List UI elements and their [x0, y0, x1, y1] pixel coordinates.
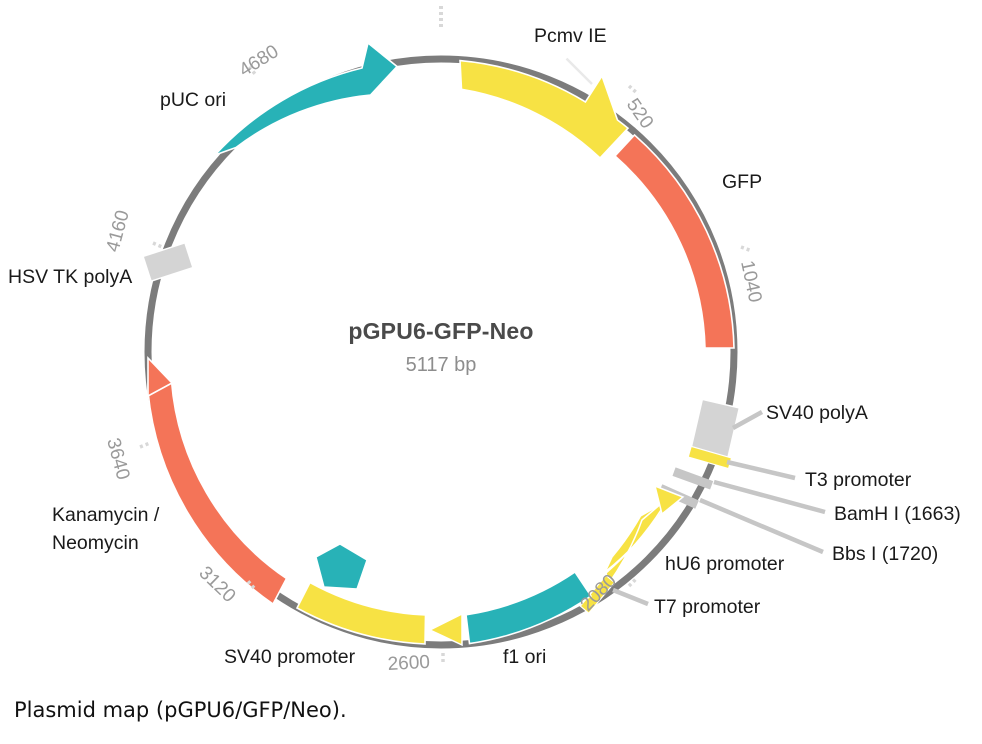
leader-t3-promoter [727, 462, 795, 478]
tick-4160: 4160 [103, 208, 162, 254]
label-sv40-polya: SV40 polyA [766, 402, 868, 424]
feature-hsv-tk-polya[interactable] [143, 243, 193, 281]
tick-label-4160: 4160 [103, 208, 134, 254]
label-kanamycin-neomycin-line2: Neomycin [52, 532, 139, 554]
plasmid-length: 5117 bp [406, 354, 477, 376]
feature-sv40-promoter[interactable] [297, 583, 426, 645]
tick-label-2600: 2600 [387, 652, 430, 675]
label-gfp: GFP [722, 171, 762, 193]
label-pcmv-ie: Pcmv IE [534, 25, 607, 47]
feature-gfp-arc[interactable] [615, 135, 734, 348]
label-puc-ori: pUC ori [160, 89, 226, 111]
tick-label-3640: 3640 [102, 436, 133, 482]
plasmid-name: pGPU6-GFP-Neo [348, 318, 533, 344]
feature-pcmv-ie[interactable] [442, 59, 629, 303]
feature-gfp[interactable] [615, 135, 734, 348]
plasmid-map-figure: Pcmv IE GFP SV40 polyA T3 promoter BamH … [0, 0, 982, 744]
tick-4680: 4680 [236, 41, 283, 81]
label-t3-promoter: T3 promoter [805, 469, 912, 491]
figure-caption: Plasmid map (pGPU6/GFP/Neo). [14, 698, 347, 722]
label-t7-promoter: T7 promoter [654, 596, 761, 618]
feature-sv40-promoter-arc[interactable] [297, 583, 426, 645]
plasmid-map-canvas: Pcmv IE GFP SV40 polyA T3 promoter BamH … [0, 0, 982, 690]
feature-inner-pentagon-shape[interactable] [316, 544, 367, 589]
tick-1040: 1040 [736, 247, 765, 304]
feature-inner-pentagon[interactable] [316, 544, 367, 589]
feature-kanamycin-neomycin-arrow[interactable] [148, 364, 287, 605]
feature-hsv-tk-polya-box[interactable] [143, 243, 193, 281]
label-bamh-i: BamH I (1663) [834, 503, 961, 525]
tick-label-1040: 1040 [736, 259, 765, 305]
label-sv40-promoter: SV40 promoter [224, 646, 356, 668]
feature-small-arrow-shape[interactable] [430, 614, 462, 645]
tick-2600: 2600 [387, 650, 443, 675]
tick-label-4680: 4680 [236, 41, 283, 81]
label-kanamycin-neomycin-line1: Kanamycin / [52, 504, 160, 526]
label-hsv-tk-polya: HSV TK polyA [8, 266, 132, 288]
feature-small-arrow-unlabeled[interactable] [430, 614, 462, 645]
feature-kanamycin-neomycin[interactable] [148, 358, 287, 604]
leader-t7-promoter [613, 590, 648, 604]
label-hu6-promoter: hU6 promoter [665, 553, 785, 575]
label-bbs-i: Bbs I (1720) [832, 543, 938, 565]
pcmv-ie-divider [567, 59, 593, 84]
label-f1-ori: f1 ori [503, 646, 546, 668]
tick-3640: 3640 [102, 436, 150, 482]
